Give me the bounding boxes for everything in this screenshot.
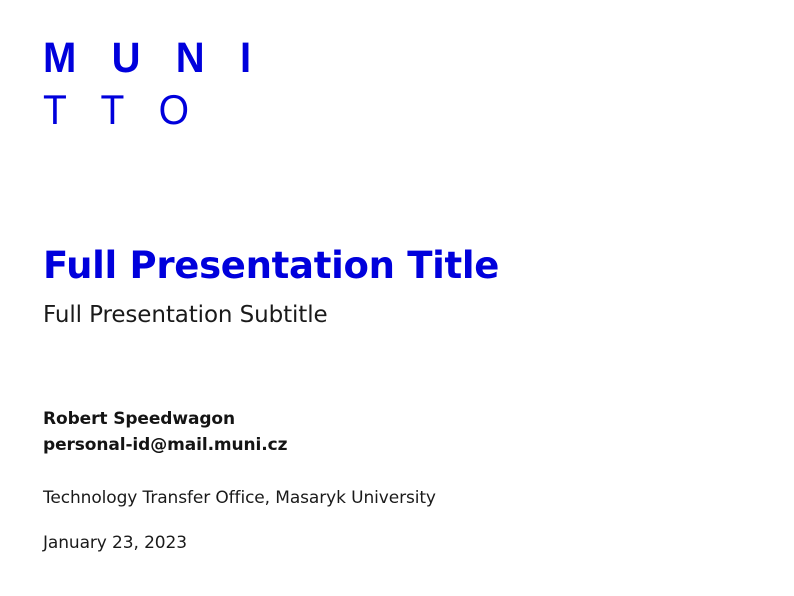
logo-tto-wordmark: T T O bbox=[43, 86, 263, 134]
author-email: personal-id@mail.muni.cz bbox=[43, 432, 743, 458]
author-affiliation: Technology Transfer Office, Masaryk Univ… bbox=[43, 485, 743, 511]
presentation-subtitle: Full Presentation Subtitle bbox=[43, 300, 743, 330]
logo-muni-wordmark: M U N I bbox=[43, 36, 263, 81]
presenter-meta-block: Robert Speedwagon personal-id@mail.muni.… bbox=[43, 406, 743, 556]
presentation-title-slide: M U N I T T O Full Presentation Title Fu… bbox=[0, 0, 794, 596]
presentation-date: January 23, 2023 bbox=[43, 530, 743, 556]
presentation-title: Full Presentation Title bbox=[43, 244, 743, 288]
title-block: Full Presentation Title Full Presentatio… bbox=[43, 244, 743, 330]
author-name: Robert Speedwagon bbox=[43, 406, 743, 432]
muni-tto-logo: M U N I T T O bbox=[43, 36, 280, 134]
